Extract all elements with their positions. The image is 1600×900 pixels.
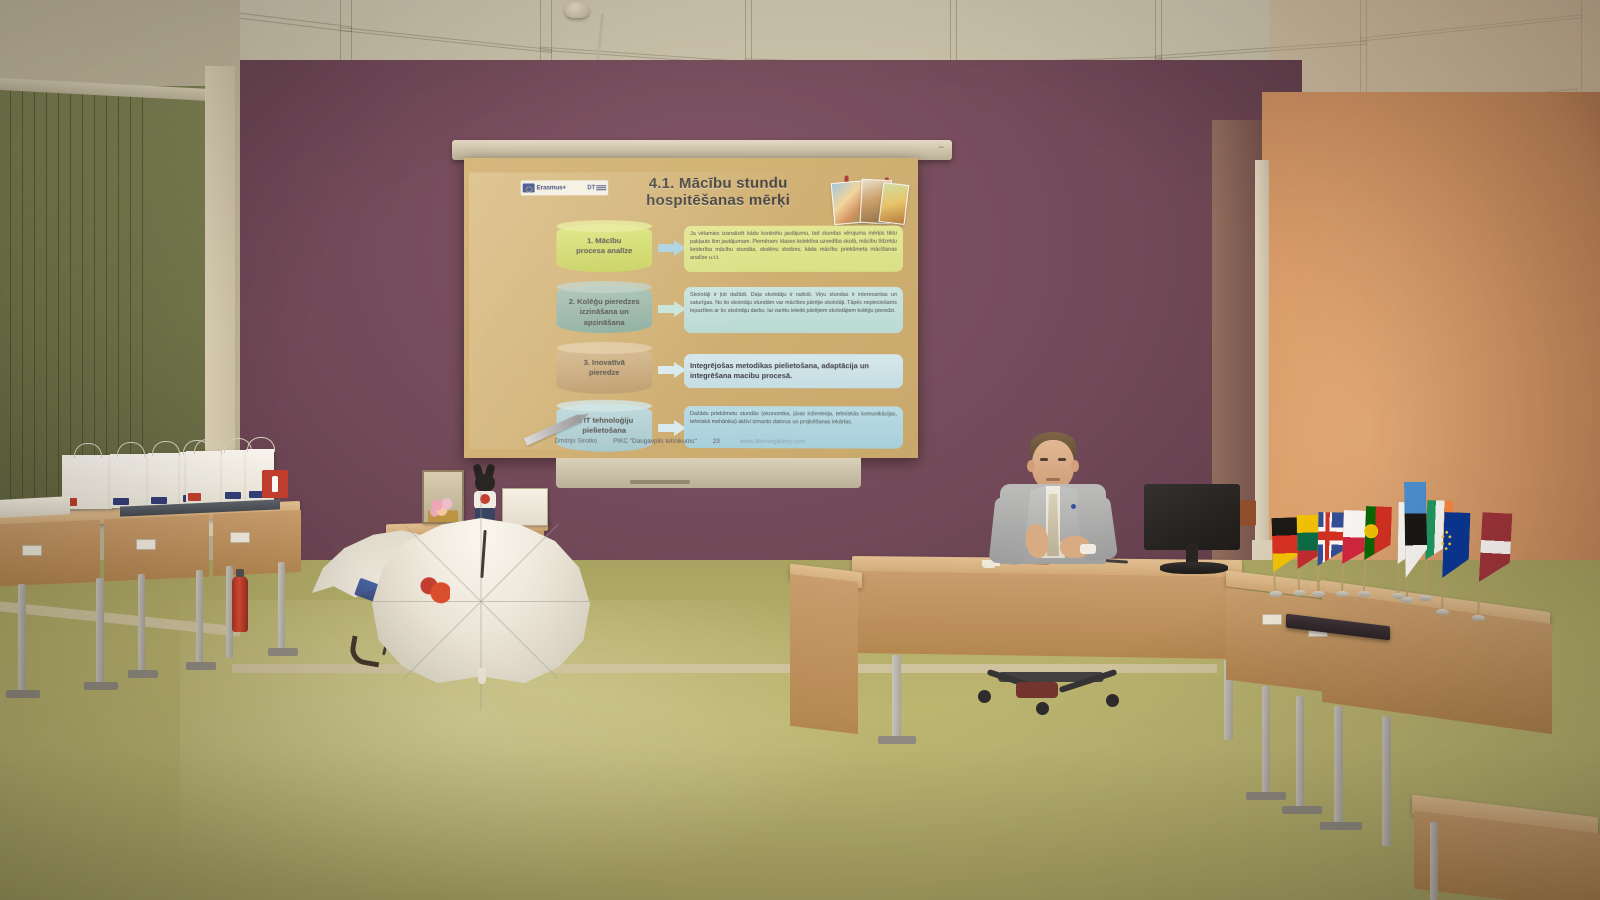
presenter-ear-left: [1027, 460, 1035, 472]
slide-textbox-4-text: Dažādu priekšmetu stundās (ekonomika, jū…: [690, 410, 897, 427]
main-desk-foot-1: [878, 736, 916, 744]
cyl2-line3: apzināšana: [584, 317, 625, 326]
slide-title: 4.1. Mācību stundu hospitēšanas mērķi: [598, 176, 838, 210]
arrow-icon-2: [658, 301, 686, 317]
erasmus-label: Erasmus+: [537, 184, 566, 191]
erasmus-badge: Erasmus+ DT: [521, 180, 608, 195]
slide-textbox-3-text: Integrējošas metodikas pielietošana, ada…: [690, 361, 897, 381]
slide-surface: Erasmus+ DT 4.1. Mācību stundu hospitēša…: [464, 158, 918, 458]
slide-cylinder-1: 1. Mācību procesa analīze: [556, 224, 652, 272]
cyl2-line1: 2. Kolēģu pieredzes: [569, 297, 640, 306]
projector-screen-roller[interactable]: ▪▪: [452, 140, 952, 160]
flag-european-union: [1428, 512, 1459, 611]
presenter-lapel-pin: [1071, 504, 1076, 509]
desk-tag-2: [136, 539, 156, 550]
flag-estonia: [1393, 482, 1419, 598]
photo-collage: [828, 175, 907, 223]
slide-textbox-2-text: Skolotāji ir ļoti dažādi. Daļa skolotāju…: [690, 291, 897, 315]
arrow-icon-1: [658, 240, 686, 256]
presenter-eye-right: [1058, 458, 1066, 461]
chair-seat-red: [1016, 682, 1058, 698]
left-desk-front-1: [0, 520, 100, 587]
flag-germany: [1259, 518, 1288, 593]
slide-footer: Dmitrijs Sirotko PIKC "Daugavpils tehnik…: [469, 433, 915, 448]
slide-cylinder-3-label: 3. Inovatīvā pieredze: [556, 358, 652, 379]
presenter-ear-right: [1071, 460, 1079, 472]
left-desk-foot-4: [186, 662, 216, 670]
bag-label-3: [151, 497, 167, 504]
cyl1-line2: procesa analīze: [576, 246, 632, 255]
flag-table-tag-1: [1262, 614, 1282, 625]
slide-textbox-1: Ja vēlamies izanalizēt kādu konkrētu jau…: [684, 226, 903, 272]
projector-screen-weight-bar: [556, 458, 861, 488]
classroom-scene: ▪▪ Erasmus+ DT 4.1. Mācību stundu hospit…: [0, 0, 1600, 900]
main-desk-front: [852, 571, 1244, 659]
flag-table-foot-3: [1320, 822, 1362, 830]
slide-page-number: 23: [713, 438, 720, 445]
bag-label-5: [188, 493, 201, 501]
slide-footer-institution: PIKC "Daugavpils tehnikums": [613, 437, 697, 444]
office-chair[interactable]: [978, 672, 1126, 724]
presenter-mouth: [1046, 478, 1060, 481]
left-desk-leg-4: [196, 570, 203, 666]
slide-row-1: 1. Mācību procesa analīze Ja vēlamies iz…: [469, 224, 915, 277]
smoke-detector-icon: [565, 2, 589, 18]
left-desk-front-2: [104, 515, 209, 582]
desk-tag-3: [230, 532, 250, 543]
slide-cylinder-2-label: 2. Kolēģu pieredzes izzināšana un apzinā…: [556, 297, 652, 328]
fire-extinguisher[interactable]: [232, 576, 248, 632]
slide-footer-website: www.themegallery.com: [740, 438, 805, 445]
umbrella-logo-red: [420, 576, 450, 604]
slide-footer-author: Dmitrijs Sirotko: [554, 437, 597, 444]
monitor-panel: [1144, 484, 1240, 550]
eu-stars-icon: [1440, 530, 1453, 552]
extinguisher-glyph: [272, 476, 278, 492]
slide-textbox-3: Integrējošas metodikas pielietošana, ada…: [684, 354, 903, 388]
arrow-icon-3: [658, 362, 686, 378]
left-desk-leg-2: [96, 578, 104, 686]
slide-textbox-1-text: Ja vēlamies izanalizēt kādu konkrētu jau…: [690, 230, 897, 263]
cyl3-line2: pieredze: [589, 368, 620, 377]
flag-portugal: [1350, 506, 1381, 593]
flag-table-foot-2: [1282, 806, 1322, 814]
slide-title-line2: hospitēšanas mērķi: [598, 192, 838, 209]
black-mascot-doll: [470, 466, 500, 524]
eu-flag-icon: [523, 183, 535, 192]
flag-table-leg-1: [1262, 686, 1270, 796]
left-desk-foot-3: [128, 670, 158, 678]
projection-screen: Erasmus+ DT 4.1. Mācību stundu hospitēša…: [464, 158, 918, 458]
presenter-eye-left: [1040, 458, 1048, 461]
flag-table-foot-1: [1246, 792, 1286, 800]
dt-label: DT: [587, 185, 595, 191]
presenter-cuff: [1080, 544, 1096, 554]
gift-bag-2[interactable]: [110, 454, 150, 508]
flag-table-front-1: [1226, 588, 1330, 693]
chair-wheel-1: [978, 690, 991, 703]
slide-title-line1: 4.1. Mācību stundu: [598, 176, 838, 194]
flag-table-leg-3: [1334, 706, 1343, 828]
slide-row-2: 2. Kolēģu pieredzes izzināšana un apzinā…: [469, 285, 915, 337]
bag-label-2: [113, 498, 129, 505]
umbrella-tip-right: [478, 668, 486, 684]
presenter-head: [1032, 440, 1074, 490]
papers-on-desk: [0, 496, 70, 518]
slide-cylinder-2: 2. Kolēģu pieredzes izzināšana un apzinā…: [556, 285, 652, 333]
left-desk-foot-5: [268, 648, 298, 656]
flag-latvia: [1462, 511, 1499, 617]
slide-cylinder-1-label: 1. Mācību procesa analīze: [556, 236, 652, 257]
left-desk-foot-2: [84, 682, 118, 690]
left-desk-leg-3: [138, 574, 145, 674]
wall-speaker: [1240, 500, 1256, 526]
slide-row-4: 4. IT tehnoloģiju pielietošana Dažādu pr…: [469, 404, 915, 457]
slide-cylinder-3: 3. Inovatīvā pieredze: [556, 346, 652, 394]
umbrella-right[interactable]: [372, 518, 590, 683]
cyl3-line1: 3. Inovatīvā: [584, 358, 625, 367]
slide-row-3: 3. Inovatīvā pieredze Integrējošas metod…: [469, 346, 915, 399]
flag-table-leg-4: [1382, 716, 1391, 846]
left-desk-leg-1: [18, 584, 26, 694]
chair-wheel-2: [1036, 702, 1049, 715]
cyl1-line1: 1. Mācību: [587, 236, 621, 245]
presenter-arm-left: [989, 496, 1030, 565]
gift-bag-3[interactable]: [148, 453, 182, 507]
cable-duct: [1255, 160, 1269, 560]
desk-tag-1: [22, 545, 42, 556]
monitor-stand-base: [1160, 562, 1228, 574]
cyl2-line2: izzināšana un: [580, 307, 629, 316]
left-desk-foot-1: [6, 690, 40, 698]
chair-wheel-3: [1106, 694, 1119, 707]
seated-presenter: [976, 432, 1126, 572]
desktop-monitor[interactable]: [1144, 484, 1242, 576]
slide-textbox-2: Skolotāji ir ļoti dažādi. Daļa skolotāju…: [684, 287, 903, 333]
flag-table-leg-2: [1296, 696, 1304, 810]
collage-photo-3: [878, 182, 909, 225]
scene-caption: Conference/classroom with projector scre…: [0, 883, 1600, 900]
left-desk-leg-6: [278, 562, 285, 652]
bag-label-6: [225, 492, 241, 499]
main-desk-side-panel: [790, 574, 858, 734]
screen-pull-handle[interactable]: [630, 480, 690, 484]
roller-brand-label: ▪▪: [939, 145, 944, 151]
main-desk-leg-1: [892, 655, 901, 741]
fire-extinguisher-sign: [262, 470, 288, 498]
